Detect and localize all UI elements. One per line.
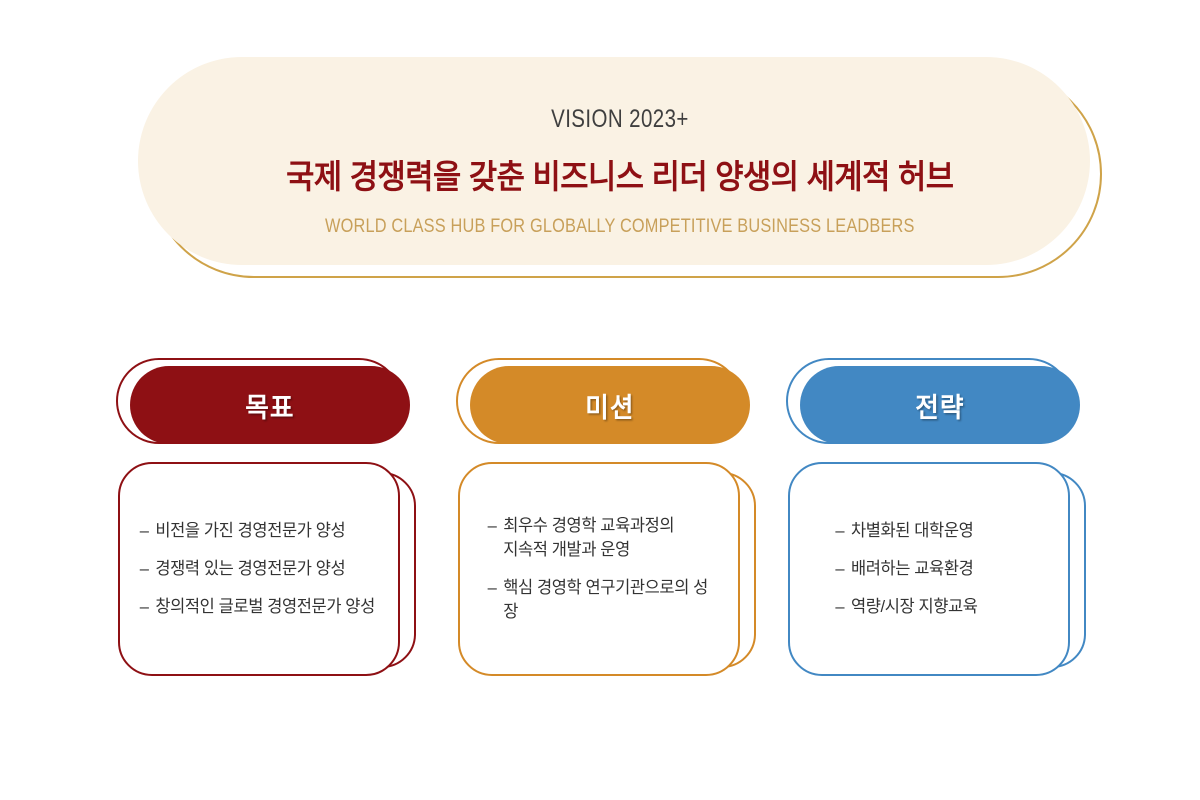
- list-item: – 핵심 경영학 연구기관으로의 성장: [488, 576, 723, 624]
- list-item-text: 배려하는 교육환경: [851, 557, 1053, 581]
- pill-fill: 전략: [800, 366, 1080, 444]
- bullet-dash-icon: –: [835, 519, 844, 543]
- pillar-heading-label: 전략: [915, 386, 964, 425]
- pillar-header-mission: 미션: [452, 352, 762, 460]
- pillar-heading-label: 미션: [585, 386, 634, 425]
- pillar-card-goal: – 비전을 가진 경영전문가 양성 – 경쟁력 있는 경영전문가 양성 – 창의…: [112, 456, 422, 688]
- list-item: – 역량/시장 지향교육: [835, 595, 1052, 619]
- bullet-dash-icon: –: [140, 595, 149, 619]
- vision-diagram: VISION 2023+ 국제 경쟁력을 갖춘 비즈니스 리더 양생의 세계적 …: [0, 0, 1200, 800]
- list-item-text: 역량/시장 지향교육: [851, 595, 1053, 619]
- list-item: – 차별화된 대학운영: [835, 519, 1052, 543]
- card-item-list: – 차별화된 대학운영 – 배려하는 교육환경 – 역량/시장 지향교육: [788, 462, 1070, 676]
- banner-eyebrow: VISION 2023+: [551, 105, 689, 134]
- list-item: – 창의적인 글로벌 경영전문가 양성: [140, 595, 383, 619]
- list-item: – 배려하는 교육환경: [835, 557, 1052, 581]
- bullet-dash-icon: –: [835, 595, 844, 619]
- vision-banner: VISION 2023+ 국제 경쟁력을 갖춘 비즈니스 리더 양생의 세계적 …: [128, 52, 1112, 290]
- banner-title: 국제 경쟁력을 갖춘 비즈니스 리더 양생의 세계적 허브: [286, 150, 953, 198]
- pillar-column-mission: 미션 – 최우수 경영학 교육과정의 지속적 개발과 운영 – 핵심 경영학 연…: [452, 352, 762, 692]
- pillar-card-mission: – 최우수 경영학 교육과정의 지속적 개발과 운영 – 핵심 경영학 연구기관…: [452, 456, 762, 688]
- bullet-dash-icon: –: [835, 557, 844, 581]
- pill-fill: 미션: [470, 366, 750, 444]
- list-item-text: 경쟁력 있는 경영전문가 양성: [155, 557, 382, 581]
- pillar-header-goal: 목표: [112, 352, 422, 460]
- list-item-text: 비전을 가진 경영전문가 양성: [155, 519, 382, 543]
- bullet-dash-icon: –: [140, 519, 149, 543]
- bullet-dash-icon: –: [488, 576, 497, 600]
- list-item-text: 최우수 경영학 교육과정의 지속적 개발과 운영: [503, 514, 722, 562]
- pill-fill: 목표: [130, 366, 410, 444]
- list-item: – 비전을 가진 경영전문가 양성: [140, 519, 383, 543]
- list-item: – 경쟁력 있는 경영전문가 양성: [140, 557, 383, 581]
- list-item-text: 핵심 경영학 연구기관으로의 성장: [503, 576, 722, 624]
- list-item-text: 차별화된 대학운영: [851, 519, 1053, 543]
- pillar-heading-label: 목표: [245, 386, 294, 425]
- pillar-column-strategy: 전략 – 차별화된 대학운영 – 배려하는 교육환경 –: [782, 352, 1092, 692]
- pillar-columns: 목표 – 비전을 가진 경영전문가 양성 – 경쟁력 있는 경영전문가 양성: [0, 352, 1200, 692]
- banner-content: VISION 2023+ 국제 경쟁력을 갖춘 비즈니스 리더 양생의 세계적 …: [128, 52, 1112, 290]
- list-item: – 최우수 경영학 교육과정의 지속적 개발과 운영: [488, 514, 723, 562]
- bullet-dash-icon: –: [140, 557, 149, 581]
- banner-subtitle: WORLD CLASS HUB FOR GLOBALLY COMPETITIVE…: [325, 216, 915, 238]
- pillar-column-goal: 목표 – 비전을 가진 경영전문가 양성 – 경쟁력 있는 경영전문가 양성: [112, 352, 422, 692]
- bullet-dash-icon: –: [488, 514, 497, 538]
- list-item-text: 창의적인 글로벌 경영전문가 양성: [155, 595, 382, 619]
- pillar-card-strategy: – 차별화된 대학운영 – 배려하는 교육환경 – 역량/시장 지향교육: [782, 456, 1092, 688]
- card-item-list: – 비전을 가진 경영전문가 양성 – 경쟁력 있는 경영전문가 양성 – 창의…: [118, 462, 400, 676]
- pillar-header-strategy: 전략: [782, 352, 1092, 460]
- card-item-list: – 최우수 경영학 교육과정의 지속적 개발과 운영 – 핵심 경영학 연구기관…: [458, 462, 740, 676]
